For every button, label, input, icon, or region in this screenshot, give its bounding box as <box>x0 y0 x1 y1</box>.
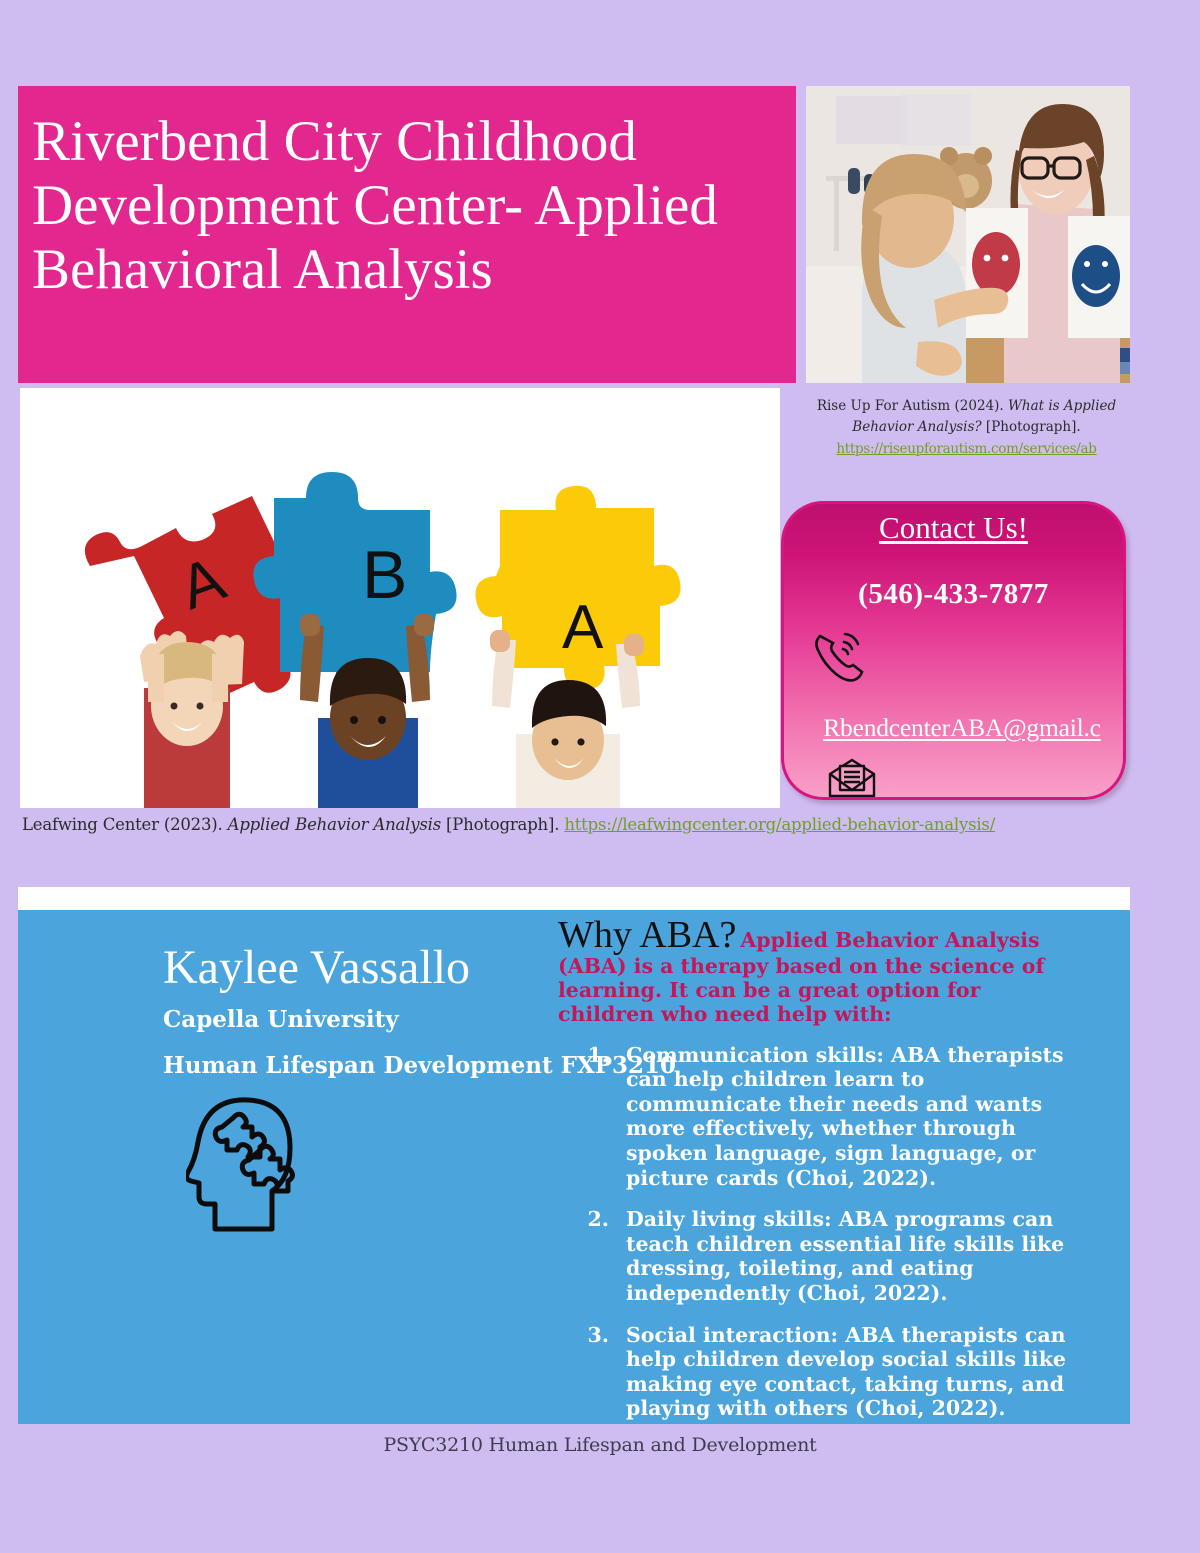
contact-heading: Contact Us! <box>784 510 1123 546</box>
citation-leafwing-author: Leafwing Center (2023). <box>22 815 223 834</box>
aba-puzzle-illustration: A B <box>20 388 780 808</box>
poster-title-banner: Riverbend City Childhood Development Cen… <box>18 86 796 383</box>
bottom-blue-panel: Kaylee Vassallo Capella University Human… <box>18 910 1130 1424</box>
therapist-photo <box>806 86 1130 383</box>
citation-riseup-medium: [Photograph]. <box>986 419 1081 435</box>
page-footer: PSYC3210 Human Lifespan and Development <box>0 1434 1200 1456</box>
author-name: Kaylee Vassallo <box>163 940 470 995</box>
citation-leafwing: Leafwing Center (2023). Applied Behavior… <box>22 808 1132 841</box>
poster-page: Riverbend City Childhood Development Cen… <box>0 0 1200 1553</box>
citation-leafwing-link[interactable]: https://leafwingcenter.org/applied-behav… <box>564 815 995 834</box>
why-aba-list: Communication skills: ABA therapists can… <box>558 1043 1078 1424</box>
page-title: Riverbend City Childhood Development Cen… <box>32 110 776 301</box>
contact-email-address[interactable]: RbendcenterABA@gmail.c <box>792 713 1126 743</box>
contact-phone-number[interactable]: (546)-433-7877 <box>784 578 1123 611</box>
open-envelope-icon <box>822 756 882 798</box>
list-item: Communication skills: ABA therapists can… <box>616 1043 1078 1191</box>
phone-ringing-icon <box>812 628 868 682</box>
aba-puzzle-photo: A B <box>20 388 780 808</box>
author-university: Capella University <box>163 1006 399 1033</box>
contact-us-card[interactable]: Contact Us! (546)-433-7877 RbendcenterAB… <box>781 501 1126 800</box>
why-aba-block: Why ABA? Applied Behavior Analysis (ABA)… <box>558 910 1078 1424</box>
citation-leafwing-title: Applied Behavior Analysis <box>228 815 441 834</box>
white-divider-strip <box>18 887 1130 910</box>
citation-riseup-link[interactable]: https://riseupforautism.com/services/ab <box>836 439 1096 460</box>
citation-leafwing-medium: [Photograph]. <box>446 815 559 834</box>
head-with-puzzle-pieces-icon <box>186 1088 316 1233</box>
therapist-photo-illustration <box>806 86 1130 383</box>
svg-text:B: B <box>362 537 407 613</box>
citation-riseup-author: Rise Up For Autism (2024). <box>817 398 1004 414</box>
citation-riseup: Rise Up For Autism (2024). What is Appli… <box>800 396 1133 498</box>
list-item: Social interaction: ABA therapists can h… <box>616 1323 1078 1421</box>
svg-text:A: A <box>562 593 604 662</box>
list-item: Daily living skills: ABA programs can te… <box>616 1207 1078 1305</box>
why-aba-heading: Why ABA? <box>558 914 736 956</box>
